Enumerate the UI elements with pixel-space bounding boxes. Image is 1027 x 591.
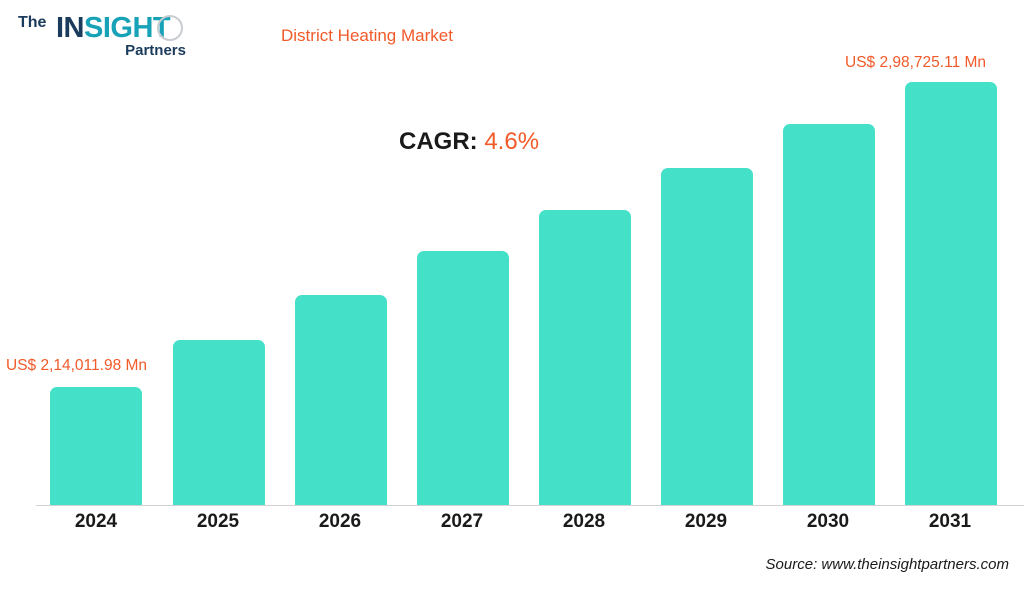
- source-caption: Source: www.theinsightpartners.com: [766, 556, 1009, 573]
- logo-partners-text: Partners: [125, 42, 186, 59]
- chart-title: District Heating Market: [281, 26, 453, 46]
- x-tick-2027: 2027: [402, 511, 522, 533]
- x-tick-2026: 2026: [280, 511, 400, 533]
- x-axis-tick-labels: 2024 2025 2026 2027 2028 2029 2030 2031: [36, 508, 1024, 540]
- plot-area: [36, 70, 1024, 505]
- x-tick-2024: 2024: [36, 511, 156, 533]
- bar-2030[interactable]: [783, 124, 875, 505]
- x-tick-2029: 2029: [646, 511, 766, 533]
- x-tick-2028: 2028: [524, 511, 644, 533]
- x-tick-2030: 2030: [768, 511, 888, 533]
- logo-insight-text: INSIGHT: [56, 12, 170, 45]
- x-tick-2025: 2025: [158, 511, 278, 533]
- x-axis-line: [36, 505, 1024, 506]
- bar-2029[interactable]: [661, 168, 753, 505]
- bar-2028[interactable]: [539, 210, 631, 505]
- bar-2026[interactable]: [295, 295, 387, 505]
- insight-partners-logo: The INSIGHT Partners: [14, 12, 194, 64]
- chart-page: The INSIGHT Partners District Heating Ma…: [0, 0, 1027, 591]
- bar-2025[interactable]: [173, 340, 265, 505]
- x-tick-2031: 2031: [890, 511, 1010, 533]
- logo-the-text: The: [18, 14, 46, 32]
- bar-2027[interactable]: [417, 251, 509, 505]
- bar-2024[interactable]: [50, 387, 142, 505]
- logo-insight-in: IN: [56, 12, 84, 44]
- logo-circle-icon: [157, 15, 183, 41]
- bar-2031[interactable]: [905, 82, 997, 505]
